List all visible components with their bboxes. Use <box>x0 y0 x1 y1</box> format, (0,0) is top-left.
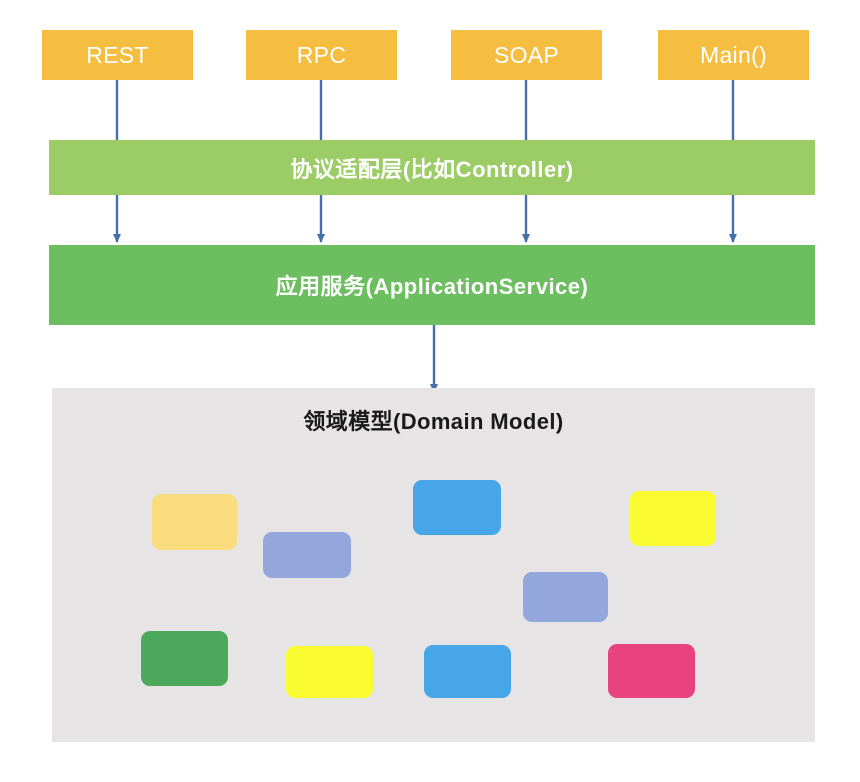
layer-protocol-adapter[interactable]: 协议适配层(比如Controller) <box>49 140 815 195</box>
entry-box-rest[interactable]: REST <box>42 30 193 80</box>
entry-label-soap: SOAP <box>494 42 559 69</box>
entry-box-rpc[interactable]: RPC <box>246 30 397 80</box>
entry-label-rpc: RPC <box>297 42 346 69</box>
domain-node-yellow-right[interactable] <box>630 491 716 546</box>
domain-node-blue-top[interactable] <box>413 480 501 535</box>
domain-model-title: 领域模型(Domain Model) <box>52 404 815 436</box>
layer-label-application-service: 应用服务(ApplicationService) <box>276 269 589 301</box>
entry-box-main[interactable]: Main() <box>658 30 809 80</box>
domain-node-yellow-bottom[interactable] <box>286 646 373 698</box>
entry-to-adapter-connectors <box>117 80 733 140</box>
layer-application-service[interactable]: 应用服务(ApplicationService) <box>49 245 815 325</box>
entry-label-rest: REST <box>86 42 149 69</box>
architecture-diagram: REST RPC SOAP Main() 协议适配层(比如Controller)… <box>0 0 860 782</box>
adapter-to-appservice-connectors <box>117 195 733 242</box>
entry-label-main: Main() <box>700 42 767 69</box>
domain-node-periwinkle-mid[interactable] <box>523 572 608 622</box>
domain-node-light-yellow[interactable] <box>152 494 237 550</box>
domain-node-pink[interactable] <box>608 644 695 698</box>
domain-node-blue-bottom[interactable] <box>424 645 511 698</box>
layer-label-protocol-adapter: 协议适配层(比如Controller) <box>290 152 573 184</box>
domain-node-green[interactable] <box>141 631 228 686</box>
entry-box-soap[interactable]: SOAP <box>451 30 602 80</box>
domain-node-periwinkle-top[interactable] <box>263 532 351 578</box>
